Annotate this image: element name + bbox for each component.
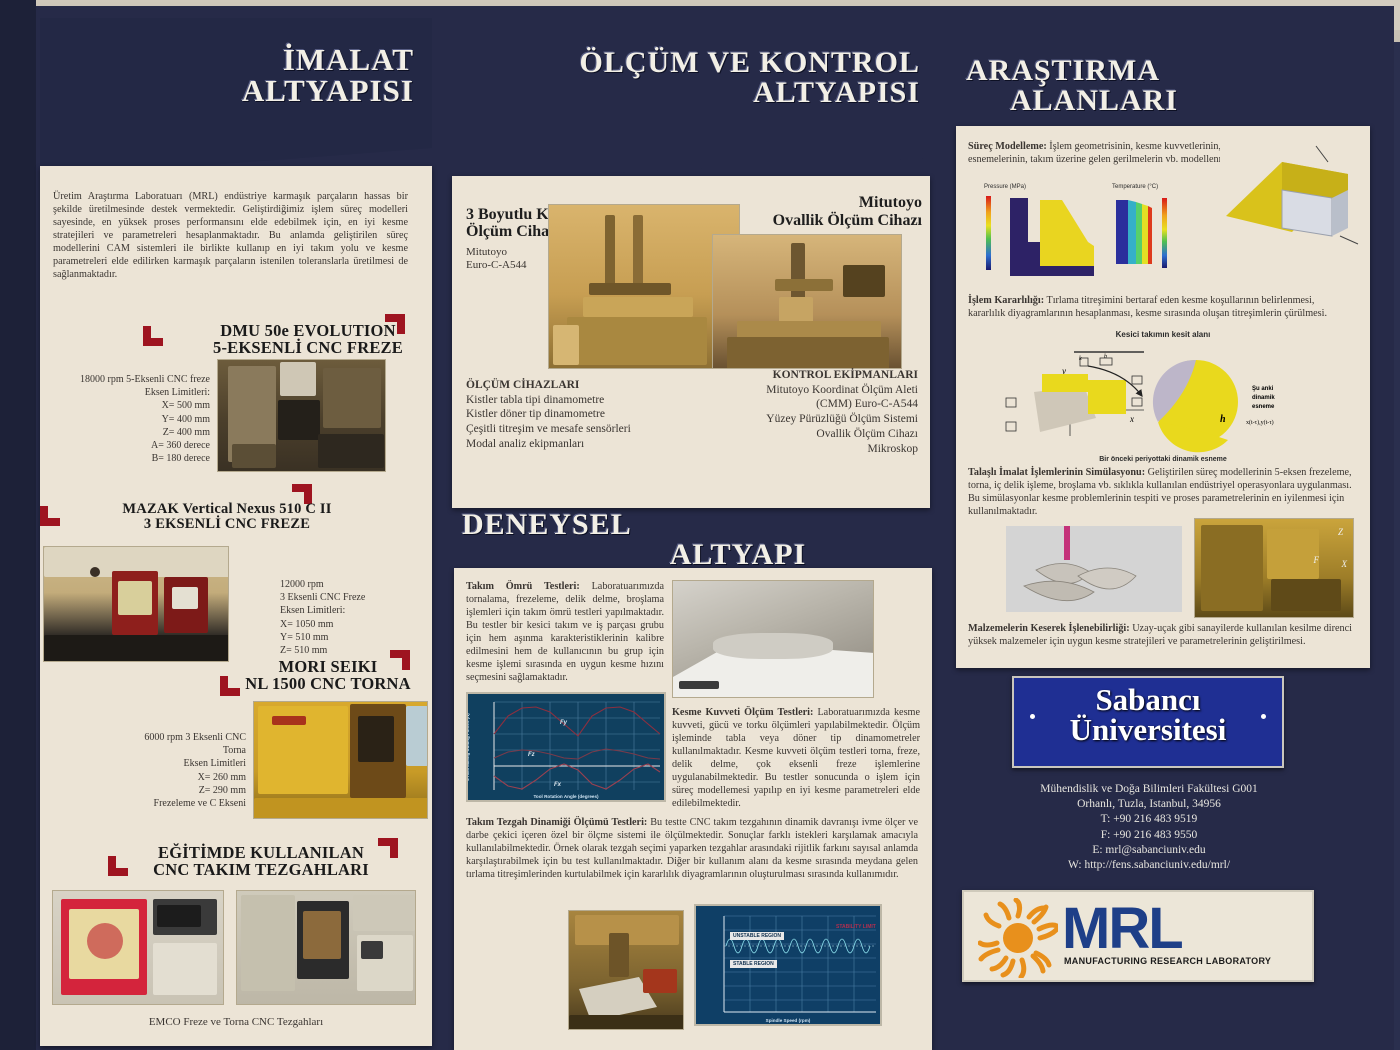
left-panel: Üretim Araştırma Laboratuarı (MRL) endüs… bbox=[40, 166, 432, 1046]
fig-caption-prev-period: Bir önceki periyottaki dinamik esneme bbox=[956, 456, 1370, 463]
block-tool-life: Takım Ömrü Testleri: Laboratuarımızda to… bbox=[466, 580, 664, 684]
spec-line: Torna bbox=[90, 744, 246, 757]
accent-mark-1 bbox=[143, 326, 163, 346]
photo-machining-test bbox=[568, 910, 684, 1030]
block-process-stability-heading: İşlem Kararlılığı: bbox=[968, 295, 1044, 306]
machine-3-line2: NL 1500 CNC TORNA bbox=[245, 674, 411, 693]
machine-title-3: MORI SEIKI NL 1500 CNC TORNA bbox=[230, 658, 426, 692]
spec-line: X= 260 mm bbox=[90, 771, 246, 784]
machine-1-line2: 5-EKSENLİ CNC FREZE bbox=[213, 338, 403, 357]
measurement-devices-heading: ÖLÇÜM CİHAZLARI bbox=[466, 378, 686, 393]
block-tool-life-heading: Takım Ömrü Testleri: bbox=[466, 581, 580, 592]
experimental-panel: Takım Ömrü Testleri: Laboratuarımızda to… bbox=[454, 568, 932, 1050]
machine-1-line1: DMU 50e EVOLUTION bbox=[220, 321, 395, 340]
cutting-forces-ylabel: 3 Axis Milling Cutting Forces (N) bbox=[466, 713, 470, 780]
svg-text:k: k bbox=[1079, 356, 1082, 362]
left-header: İMALAT ALTYAPISI bbox=[40, 18, 432, 178]
spec-line: Eksen Limitleri: bbox=[280, 604, 430, 617]
logo-dot-right bbox=[1261, 714, 1266, 719]
stability-xlabel: Spindle Speed (rpm) bbox=[696, 1018, 880, 1023]
svg-text:Fy: Fy bbox=[560, 720, 568, 726]
svg-text:h: h bbox=[1220, 414, 1226, 425]
sun-icon bbox=[978, 898, 1058, 978]
accent-mark-8 bbox=[108, 856, 128, 876]
right-title-line2: ALANLARI bbox=[966, 86, 1362, 116]
svg-text:x(t-τ),y(t-τ): x(t-τ),y(t-τ) bbox=[1246, 419, 1274, 426]
photo-mazak-nexus bbox=[43, 546, 229, 662]
middle-header: ÖLÇÜM VE KONTROL ALTYAPISI bbox=[448, 8, 934, 180]
machine-3-specs: 6000 rpm 3 Eksenli CNC Torna Eksen Limit… bbox=[90, 731, 246, 810]
logo-dot-left bbox=[1030, 714, 1035, 719]
fea-3d-model bbox=[1220, 140, 1362, 266]
machine-2-line2: 3 EKSENLİ CNC FREZE bbox=[144, 516, 310, 532]
block-machinability: Malzemelerin Keserek İşlenebilirliği: Uz… bbox=[968, 622, 1358, 648]
experimental-title-line1: DENEYSEL bbox=[462, 510, 934, 540]
machine-title-1: DMU 50e EVOLUTION 5-EKSENLİ CNC FREZE bbox=[190, 322, 426, 356]
cmm-title-line2: Ölçüm Cihazı bbox=[466, 223, 561, 240]
block-tool-life-text: Laboratuarımızda tornalama, frezeleme, d… bbox=[466, 581, 664, 683]
contact-line: W: http://fens.sabanciuniv.edu/mrl/ bbox=[974, 858, 1324, 873]
cutting-forces-chart: Fy Fz Fx 3 Axis Milling Cutting Forces (… bbox=[466, 692, 666, 802]
photo-emco-lathe bbox=[236, 890, 416, 1005]
spec-line: Y= 400 mm bbox=[58, 413, 210, 426]
svg-text:x: x bbox=[1129, 414, 1134, 424]
spec-line: Y= 510 mm bbox=[280, 631, 430, 644]
ovality-title-line1: Mitutoyo bbox=[859, 194, 922, 211]
mrl-subtitle: MANUFACTURING RESEARCH LABORATORY bbox=[1064, 956, 1271, 966]
svg-text:Fx: Fx bbox=[554, 782, 562, 788]
machine-4-line1: EĞİTİMDE KULLANILAN bbox=[158, 843, 364, 862]
cutting-forces-xlabel: Tool Rotation Angle (degrees) bbox=[468, 794, 664, 799]
middle-title-line2: ALTYAPISI bbox=[458, 78, 920, 108]
svg-text:b: b bbox=[1104, 354, 1107, 360]
machine-title-4: EĞİTİMDE KULLANILAN CNC TAKIM TEZGAHLARI bbox=[136, 844, 386, 878]
contact-line: Orhanlı, Tuzla, Istanbul, 34956 bbox=[974, 797, 1324, 812]
list-item: Mikroskop bbox=[688, 442, 918, 457]
cmm-sub-line2: Euro-C-A544 bbox=[466, 259, 527, 271]
block-cutting-force: Kesme Kuvveti Ölçüm Testleri: Laboratuar… bbox=[672, 706, 920, 810]
contact-line: F: +90 216 483 9550 bbox=[974, 828, 1324, 843]
measurement-panel: 3 Boyutlu Koordinat Ölçüm Cihazı Mitutoy… bbox=[452, 176, 930, 508]
temperature-colorbar bbox=[1162, 198, 1167, 268]
contact-info: Mühendislik ve Doğa Bilimleri Fakültesi … bbox=[974, 782, 1324, 873]
block-process-stability: İşlem Kararlılığı: Tırlama titreşimini b… bbox=[968, 294, 1354, 320]
left-caption: EMCO Freze ve Torna CNC Tezgahları bbox=[40, 1016, 432, 1028]
photo-5axis-milling: Z X F bbox=[1194, 518, 1354, 618]
spec-line: X= 1050 mm bbox=[280, 618, 430, 631]
svg-text:Fz: Fz bbox=[528, 752, 535, 758]
block-cutting-force-heading: Kesme Kuvveti Ölçüm Testleri: bbox=[672, 707, 813, 718]
spec-line: 6000 rpm 3 Eksenli CNC bbox=[90, 731, 246, 744]
experimental-title: DENEYSEL ALTYAPI bbox=[448, 510, 934, 570]
contact-line: T: +90 216 483 9519 bbox=[974, 812, 1324, 827]
mrl-acronym: MRL bbox=[1062, 900, 1182, 958]
control-equipment-list: KONTROL EKİPMANLARI Mitutoyo Koordinat Ö… bbox=[688, 368, 918, 456]
wall-left-edge bbox=[0, 0, 36, 1050]
spec-line: 12000 rpm bbox=[280, 578, 430, 591]
left-title-line2: ALTYAPISI bbox=[50, 75, 414, 106]
spec-line: Eksen Limitleri bbox=[90, 757, 246, 770]
svg-text:esneme: esneme bbox=[1252, 404, 1275, 410]
ovality-title: Mitutoyo Ovallik Ölçüm Cihazı bbox=[702, 194, 922, 229]
svg-text:dinamik: dinamik bbox=[1252, 395, 1275, 401]
experimental-title-line2: ALTYAPI bbox=[462, 540, 934, 570]
left-title-line1: İMALAT bbox=[50, 44, 414, 75]
right-column: ARAŞTIRMA ALANLARI Süreç Modelleme: İşle… bbox=[944, 14, 1384, 1050]
machine-title-2: MAZAK Vertical Nexus 510 C II 3 EKSENLİ … bbox=[56, 502, 398, 532]
fig-caption-cut-area: Kesici takımın kesit alanı bbox=[956, 330, 1370, 339]
photo-dmu-50e bbox=[217, 359, 386, 472]
right-title-line1: ARAŞTIRMA bbox=[966, 56, 1362, 86]
left-intro-text: Üretim Araştırma Laboratuarı (MRL) endüs… bbox=[53, 190, 408, 281]
block-cutting-force-text: Laboratuarımızda kesme kuvveti, gücü ve … bbox=[672, 707, 920, 809]
cmm-sub-line1: Mitutoyo bbox=[466, 246, 507, 258]
stability-lobe-chart: STABILITY LIMIT UNSTABLE REGION STABLE R… bbox=[694, 904, 882, 1026]
middle-column: ÖLÇÜM VE KONTROL ALTYAPISI 3 Boyutlu Koo… bbox=[448, 8, 934, 1050]
fea-temperature-title: Temperature (°C) bbox=[1112, 184, 1158, 190]
spec-line: 18000 rpm 5-Eksenli CNC freze bbox=[58, 373, 210, 386]
machine-1-specs: 18000 rpm 5-Eksenli CNC freze Eksen Limi… bbox=[58, 373, 210, 465]
spec-line: X= 500 mm bbox=[58, 399, 210, 412]
block-machinability-heading: Malzemelerin Keserek İşlenebilirliği: bbox=[968, 623, 1130, 634]
spec-line: A= 360 derece bbox=[58, 439, 210, 452]
spec-line: Z= 400 mm bbox=[58, 426, 210, 439]
list-item: (CMM) Euro-C-A544 bbox=[688, 397, 918, 412]
photo-mori-seiki bbox=[253, 701, 428, 819]
block-simulation: Talaşlı İmalat İşlemlerinin Simülasyonu:… bbox=[968, 466, 1354, 518]
contact-line: Mühendislik ve Doğa Bilimleri Fakültesi … bbox=[974, 782, 1324, 797]
mrl-logo: MRL MANUFACTURING RESEARCH LABORATORY bbox=[962, 890, 1314, 982]
middle-title: ÖLÇÜM VE KONTROL ALTYAPISI bbox=[448, 8, 934, 134]
sabanci-logo: Sabancı Üniversitesi bbox=[1012, 676, 1284, 768]
spec-line: Eksen Limitleri: bbox=[58, 386, 210, 399]
list-item: Mitutoyo Koordinat Ölçüm Aleti bbox=[688, 383, 918, 398]
list-item: Modal analiz ekipmanları bbox=[466, 437, 686, 452]
spec-line: Frezeleme ve C Ekseni bbox=[90, 797, 246, 810]
block-simulation-heading: Talaşlı İmalat İşlemlerinin Simülasyonu: bbox=[968, 467, 1145, 478]
research-panel: Süreç Modelleme: İşlem geometrisinin, ke… bbox=[956, 126, 1370, 668]
spec-line: Z= 290 mm bbox=[90, 784, 246, 797]
photo-emco-mill bbox=[52, 890, 224, 1005]
sabanci-logo-line2: Üniversitesi bbox=[1014, 712, 1282, 748]
list-item: Ovallik Ölçüm Cihazı bbox=[688, 427, 918, 442]
block-machine-dynamics: Takım Tezgah Dinamiği Ölçümü Testleri: B… bbox=[466, 816, 918, 881]
chatter-diagram: y k b x h Şu anki bbox=[984, 340, 1344, 458]
photo-ovality-device bbox=[712, 234, 902, 369]
ovality-title-line2: Ovallik Ölçüm Cihazı bbox=[773, 212, 922, 229]
machine-3-line1: MORI SEIKI bbox=[279, 657, 378, 676]
machine-2-line1: MAZAK Vertical Nexus 510 C II bbox=[122, 501, 331, 517]
fea-figure-group: Pressure (MPa) Temperature (°C) bbox=[966, 184, 1218, 296]
photo-tool-wear bbox=[672, 580, 874, 698]
machine-4-line2: CNC TAKIM TEZGAHLARI bbox=[153, 860, 369, 879]
left-column: İMALAT ALTYAPISI Üretim Araştırma Labora… bbox=[40, 18, 432, 1046]
list-item: Yüzey Pürüzlüğü Ölçüm Sistemi bbox=[688, 412, 918, 427]
middle-title-line1: ÖLÇÜM VE KONTROL bbox=[458, 48, 920, 78]
left-title: İMALAT ALTYAPISI bbox=[40, 18, 432, 132]
unstable-region-label: UNSTABLE REGION bbox=[730, 932, 784, 940]
photo-simulation-blade bbox=[1006, 526, 1182, 612]
block-machine-dynamics-heading: Takım Tezgah Dinamiği Ölçümü Testleri: bbox=[466, 817, 647, 828]
svg-text:Şu anki: Şu anki bbox=[1252, 386, 1274, 392]
spec-line: 3 Eksenli CNC Freze bbox=[280, 591, 430, 604]
block-process-modelling-heading: Süreç Modelleme: bbox=[968, 141, 1047, 152]
spec-line: B= 180 derece bbox=[58, 452, 210, 465]
list-item: Çeşitli titreşim ve mesafe sensörleri bbox=[466, 422, 686, 437]
svg-text:STABILITY LIMIT: STABILITY LIMIT bbox=[836, 924, 876, 930]
stable-region-label: STABLE REGION bbox=[730, 960, 777, 968]
contact-line: E: mrl@sabanciuniv.edu bbox=[974, 843, 1324, 858]
list-item: Kistler döner tip dinamometre bbox=[466, 407, 686, 422]
control-equipment-heading: KONTROL EKİPMANLARI bbox=[688, 368, 918, 383]
measurement-devices-list: ÖLÇÜM CİHAZLARI Kistler tabla tipi dinam… bbox=[466, 378, 686, 452]
list-item: Kistler tabla tipi dinamometre bbox=[466, 393, 686, 408]
machine-2-specs: 12000 rpm 3 Eksenli CNC Freze Eksen Limi… bbox=[280, 578, 430, 657]
